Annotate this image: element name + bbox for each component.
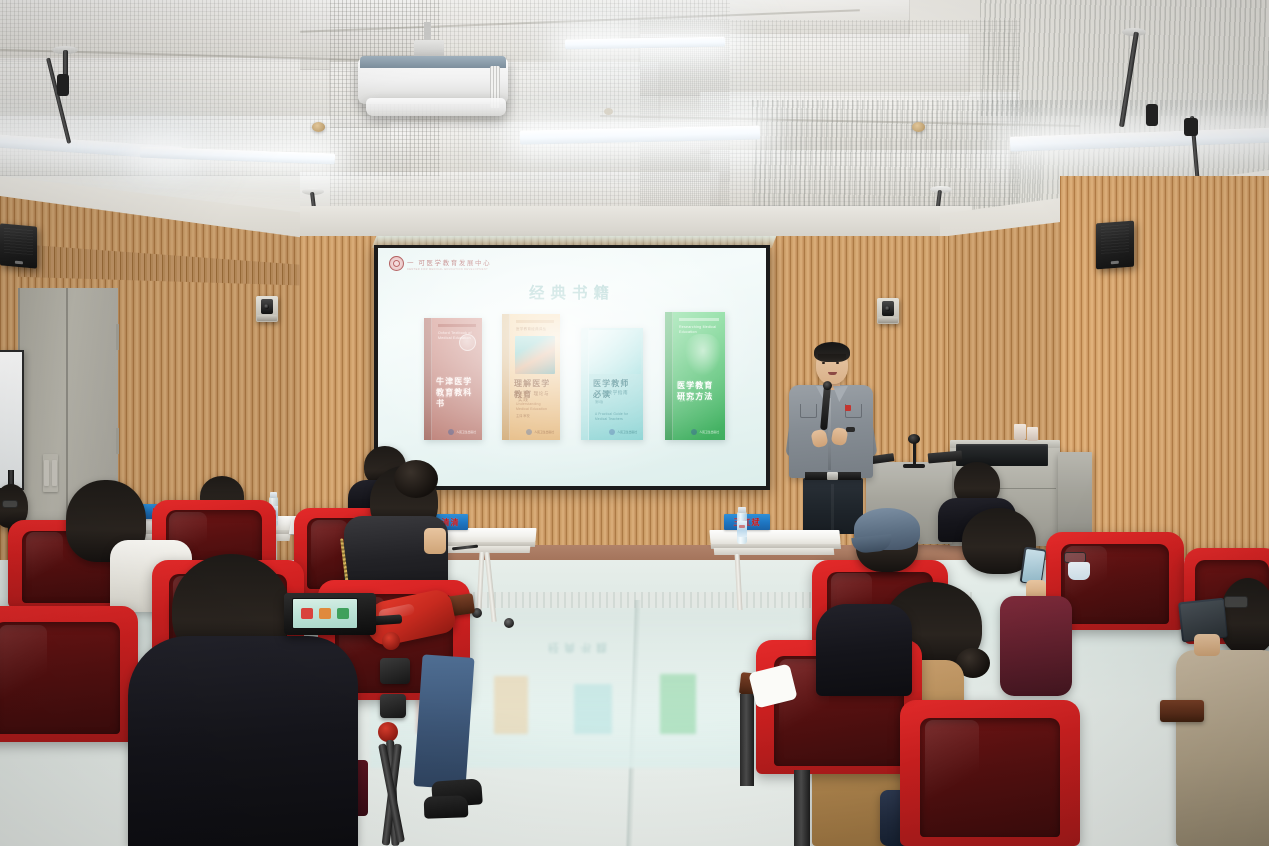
door-lock-plate (43, 454, 58, 492)
table-apron (714, 548, 835, 555)
seat-armrest (1160, 700, 1204, 722)
speaker-brand-logo (14, 260, 22, 264)
slide-logo-en-text: CENTER FOR MEDICAL EDUCATION DEVELOPMENT (407, 268, 491, 271)
sprinkler-icon (604, 108, 613, 115)
reflected-book (574, 684, 612, 734)
ceiling-camera-head (1146, 104, 1158, 126)
wall-camera-left (256, 296, 278, 322)
audience-body-black-coat (128, 636, 358, 846)
paper-cup (1027, 427, 1038, 441)
mic-base (903, 464, 925, 468)
book-cn-title-1: 牛津医学教育教科书 (436, 376, 476, 409)
side-cabinet (1058, 452, 1092, 544)
book-publisher-1: 人民卫生出版社 (448, 429, 476, 435)
slide-book-row: Oxford Textbook of Medical Education 牛津医… (378, 310, 766, 440)
audience-body-maroon (1000, 596, 1072, 696)
phone-screen (1021, 548, 1044, 583)
book-cover-photo (589, 330, 641, 374)
tripod-pan-knob[interactable] (382, 632, 400, 650)
book-series-bar (516, 320, 554, 323)
audience-body-foreground-right (816, 604, 912, 696)
presenter-shirt-pocket (800, 404, 817, 418)
audience-shoe (424, 795, 469, 819)
book-seal-icon (459, 334, 476, 351)
paper-cup (1014, 424, 1026, 440)
camera-base (878, 317, 898, 323)
book-spine (502, 314, 510, 440)
publisher-logo-icon (691, 429, 697, 435)
publisher-logo-icon (609, 429, 615, 435)
bottle-cap (738, 507, 746, 513)
book-publisher-2: 人民卫生出版社 (526, 429, 554, 435)
presenter-badge (845, 405, 851, 411)
wall-camera-right (877, 298, 899, 324)
projection-screen: 一 可医学教育发展中心 CENTER FOR MEDICAL EDUCATION… (378, 248, 766, 486)
bottle-label (737, 521, 747, 537)
reflected-book (494, 676, 528, 734)
audience-body-beige (1176, 650, 1269, 846)
book-cover-photo (515, 336, 555, 374)
eyeglasses-icon (1224, 596, 1248, 608)
presenter-belt-buckle (827, 472, 838, 480)
camera-lens-icon (882, 301, 894, 316)
wall-speaker-left (0, 223, 37, 268)
projector-top-shell (360, 56, 506, 68)
presenter-hair (814, 342, 850, 362)
monitor-thumb (301, 608, 313, 619)
book-series-bar (438, 324, 476, 327)
publisher-logo-icon (448, 429, 454, 435)
seat-support-post (794, 770, 810, 846)
book-en-title-2: Understanding Medical Education (516, 402, 552, 412)
book-authors-4: 主译 审校 (679, 398, 693, 402)
eyeglasses-icon (2, 500, 18, 508)
gooseneck-mic-head (908, 434, 920, 444)
speaker-brand-logo (1111, 261, 1119, 265)
book-series-2: 医学教育经典译丛 (516, 327, 552, 332)
wall-speaker-right (1096, 221, 1134, 270)
lecture-hall-scene: 一 可医学教育发展中心 CENTER FOR MEDICAL EDUCATION… (0, 0, 1269, 846)
book-subtitle-3: 实用教学指南 (597, 390, 635, 396)
book-authors-2: 主译 审校 (516, 414, 530, 418)
presenter-eye-left (822, 362, 825, 364)
publisher-logo-icon (526, 429, 532, 435)
auditorium-seat[interactable] (900, 700, 1080, 846)
face-mask (1068, 562, 1090, 580)
university-crest-icon (389, 256, 404, 271)
bottle-cap (270, 492, 277, 498)
slide-title: 经典书籍 (378, 281, 766, 303)
tripod-joint (380, 658, 410, 684)
publisher-name-3: 人民卫生出版社 (617, 430, 637, 434)
publisher-name-4: 人民卫生出版社 (699, 430, 719, 434)
ceiling-speaker-head (1184, 118, 1198, 136)
book-spine (665, 312, 673, 440)
smoke-detector-icon (312, 122, 325, 132)
book-cover-1: Oxford Textbook of Medical Education 牛津医… (424, 318, 482, 440)
whiteboard (0, 350, 24, 490)
book-cover-4: Researching Medical Education 医学教育研究方法 主… (665, 312, 725, 440)
book-cover-graphic (685, 334, 721, 376)
door-hinge (116, 324, 119, 350)
book-authors-1: 主编 原著 (438, 394, 452, 398)
seat-highlight (925, 720, 979, 808)
seat-highlight (0, 625, 47, 707)
smoke-detector-icon (912, 122, 925, 132)
publisher-name-1: 人民卫生出版社 (456, 430, 476, 434)
book-publisher-3: 人民卫生出版社 (609, 429, 637, 435)
book-cover-3: 医学教师必读 实用教学指南 第5版 A Practical Guide for … (581, 328, 643, 440)
projector-lower-shell (366, 98, 506, 116)
audience-hand (424, 528, 446, 554)
hair-bun (394, 460, 438, 498)
table-caster-wheel (504, 618, 514, 628)
presenter-torso (789, 385, 873, 478)
nameplate-right: 王红斌 (724, 514, 770, 530)
auditorium-seat[interactable] (0, 606, 138, 742)
book-cover-2: 医学教育经典译丛 理解医学教育 证据、理论与实践 Understanding M… (502, 314, 560, 440)
audience-hand (1194, 634, 1220, 656)
slide-logo-cn-text: 一 可医学教育发展中心 (407, 257, 491, 267)
front-table-right (709, 530, 840, 544)
book-publisher-4: 人民卫生出版社 (691, 429, 719, 435)
door-center-seam (66, 288, 68, 524)
book-en-title-3: A Practical Guide for Medical Teachers (595, 412, 635, 422)
camera-monitor-screen (292, 598, 358, 629)
door-hinge (116, 428, 119, 454)
book-series-bar (679, 318, 719, 321)
slide-logo: 一 可医学教育发展中心 CENTER FOR MEDICAL EDUCATION… (389, 256, 491, 271)
presenter-eye-right (836, 362, 839, 364)
presenter-wristwatch (846, 427, 855, 432)
monitor-thumb (319, 608, 331, 619)
book-cn-title-3: 医学教师必读 (593, 378, 637, 400)
seat-support-post (740, 694, 754, 786)
book-edition-3: 第5版 (595, 400, 603, 404)
water-bottle (737, 512, 747, 544)
seat-highlight (26, 532, 64, 585)
camera-base (257, 315, 277, 321)
monitor-thumb (337, 608, 349, 619)
audience-legs-jeans (413, 654, 474, 789)
camera-lens-icon (261, 299, 273, 314)
audience-head (1220, 578, 1269, 654)
tripod-joint (380, 694, 406, 718)
ceiling-camera-head (57, 74, 69, 96)
publisher-name-2: 人民卫生出版社 (534, 430, 554, 434)
tripod-lock-knob[interactable] (378, 722, 398, 742)
reflected-book (660, 674, 696, 734)
book-spine (424, 318, 432, 440)
book-spine (581, 328, 589, 440)
